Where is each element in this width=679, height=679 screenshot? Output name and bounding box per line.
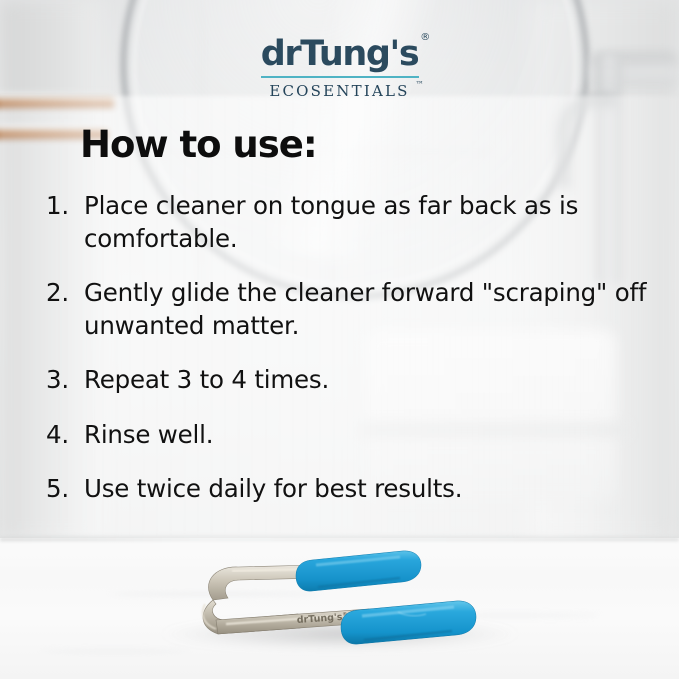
product-image: drTung's®	[0, 0, 679, 679]
handle-upper	[296, 551, 421, 591]
product-instruction-card: drTung's ® ECOSENTIALS ™ How to use: 1. …	[0, 0, 679, 679]
